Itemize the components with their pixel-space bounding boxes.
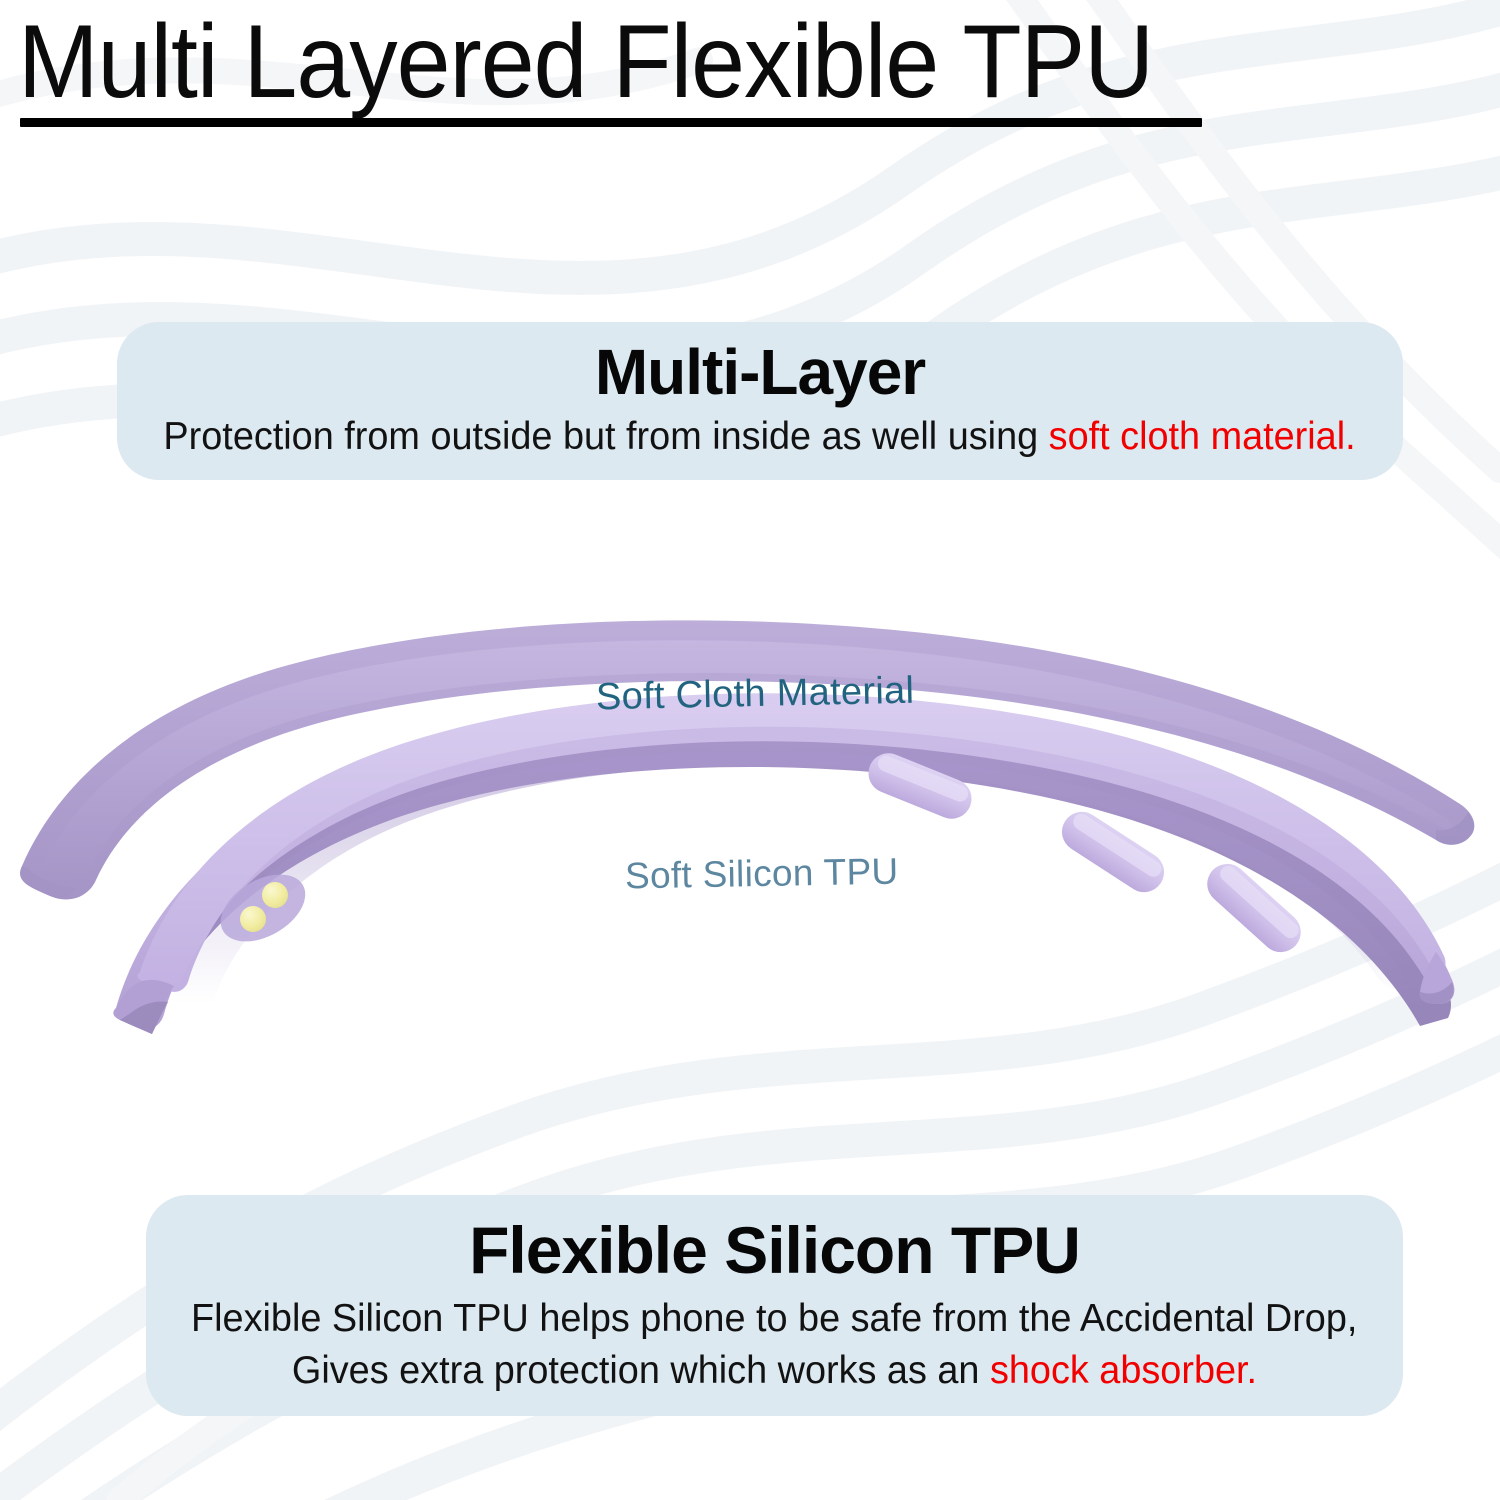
info-card-multi-layer: Multi-Layer Protection from outside but … (117, 322, 1403, 480)
page-title: Multi Layered Flexible TPU (18, 8, 1134, 116)
card-body-line-1: Flexible Silicon TPU helps phone to be s… (191, 1293, 1357, 1345)
card-body-text-highlight: soft cloth material. (1049, 415, 1356, 458)
card-body-text-plain: Gives extra protection which works as an (292, 1349, 990, 1392)
card-body-text-plain: Protection from outside but from inside … (164, 415, 1049, 458)
camera-lens-icon (262, 882, 288, 908)
heading-block: Multi Layered Flexible TPU (18, 8, 1218, 116)
card-title-flexible-silicon-tpu: Flexible Silicon TPU (469, 1215, 1080, 1285)
card-body-line-2: Gives extra protection which works as an… (292, 1345, 1257, 1397)
phone-case-illustration (0, 590, 1500, 1060)
card-body-text-highlight: shock absorber. (990, 1349, 1257, 1392)
camera-lens-icon (240, 906, 266, 932)
card-body-multi-layer: Protection from outside but from inside … (164, 411, 1356, 463)
card-title-multi-layer: Multi-Layer (595, 339, 925, 405)
infographic-page: Multi Layered Flexible TPU Multi-Layer P… (0, 0, 1500, 1500)
title-underline-rule (20, 118, 1202, 127)
info-card-flexible-silicon-tpu: Flexible Silicon TPU Flexible Silicon TP… (146, 1195, 1403, 1416)
